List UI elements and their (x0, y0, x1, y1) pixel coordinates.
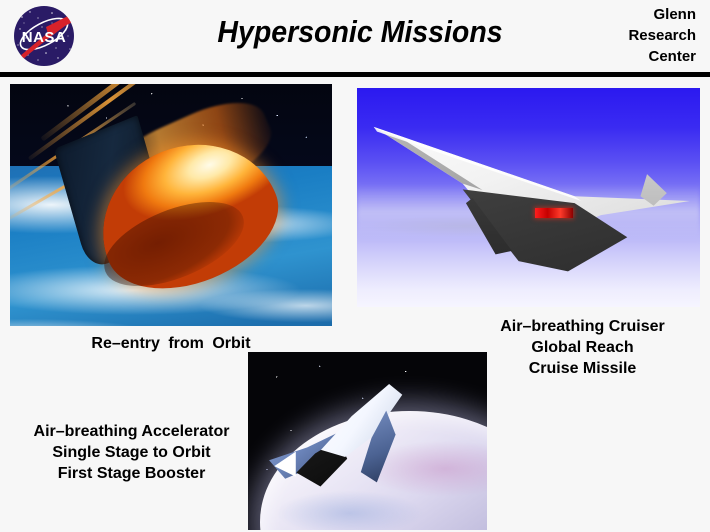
accelerator-caption-line-1: Air–breathing Accelerator (4, 421, 259, 442)
hypersonic-cruiser-image (357, 88, 700, 307)
cruiser-engine-glow (535, 208, 573, 218)
nasa-center-name: Glenn Research Center (566, 4, 696, 67)
nasa-insignia-logo: NASA (8, 3, 80, 69)
reentry-caption-line-1: Re–entry from Orbit (10, 334, 332, 354)
accelerator-caption-line-3: First Stage Booster (4, 463, 259, 484)
accelerator-caption-line-2: Single Stage to Orbit (4, 442, 259, 463)
reentry-capsule-image (10, 84, 332, 326)
page-title: Hypersonic Missions (167, 10, 553, 54)
header-divider-rule (0, 72, 710, 77)
svg-text:NASA: NASA (22, 29, 67, 46)
spaceplane-image (248, 352, 487, 530)
center-name-line-2: Research (566, 25, 696, 46)
center-name-line-3: Center (566, 46, 696, 67)
cruiser-caption-line-3: Cruise Missile (460, 358, 705, 379)
cruiser-caption-line-2: Global Reach (460, 337, 705, 358)
reentry-caption: Re–entry from Orbit (10, 334, 332, 354)
slide-root: NASA Hypersonic Missions Glenn Research … (0, 0, 710, 532)
slide-header: NASA Hypersonic Missions Glenn Research … (0, 0, 710, 72)
accelerator-caption: Air–breathing Accelerator Single Stage t… (4, 421, 259, 484)
cruiser-caption: Air–breathing Cruiser Global Reach Cruis… (460, 316, 705, 379)
cruiser-caption-line-1: Air–breathing Cruiser (460, 316, 705, 337)
center-name-line-1: Glenn (566, 4, 696, 25)
